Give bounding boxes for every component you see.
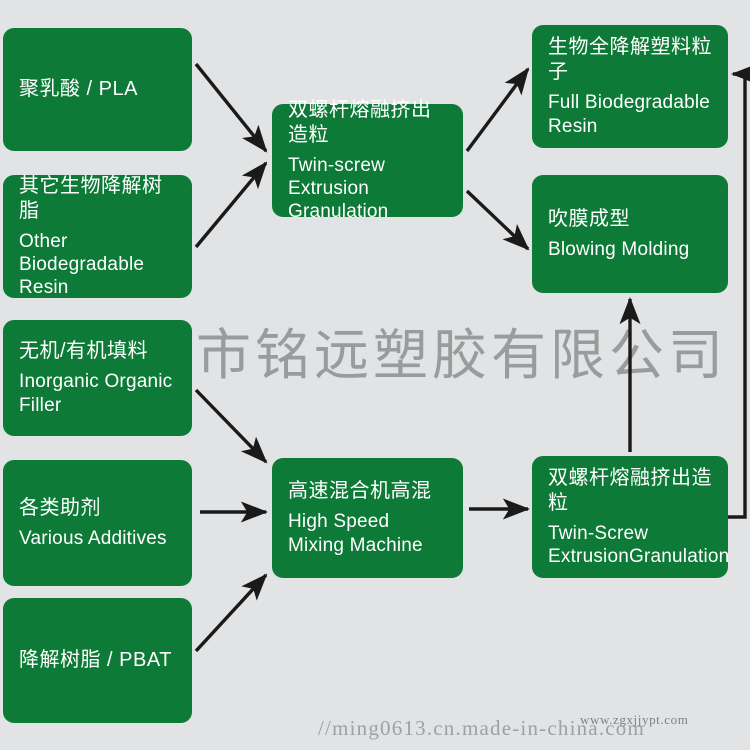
node-resin-en: Full Biodegradable Resin (548, 91, 712, 137)
node-twin1-cn: 双螺杆熔融挤出造粒 (288, 98, 447, 148)
node-filler-en: Inorganic Organic Filler (19, 370, 176, 416)
edge-pla-to-twin1 (196, 64, 266, 151)
node-twin1-en: Twin-screw Extrusion Granulation (288, 154, 447, 224)
edge-twin1-to-blow (467, 191, 528, 249)
node-blowing-molding[interactable]: 吹膜成型 Blowing Molding (532, 175, 728, 293)
edge-pbat-to-mix (196, 575, 266, 651)
node-twin2-en: Twin-Screw ExtrusionGranulation (548, 522, 712, 568)
node-additives-cn: 各类助剂 (19, 496, 176, 521)
node-twin2-cn: 双螺杆熔融挤出造粒 (548, 466, 712, 516)
node-blow-en: Blowing Molding (548, 238, 712, 261)
node-filler-cn: 无机/有机填料 (19, 339, 176, 364)
edge-twin1-to-resin (467, 69, 528, 151)
edge-twin2-to-resin (728, 74, 745, 517)
node-inorganic-organic-filler[interactable]: 无机/有机填料 Inorganic Organic Filler (3, 320, 192, 436)
node-high-speed-mixing-machine[interactable]: 高速混合机高混 High Speed Mixing Machine (272, 458, 463, 578)
edge-other-to-twin1 (196, 163, 266, 247)
node-pbat[interactable]: 降解树脂 / PBAT (3, 598, 192, 723)
watermark-secondary-url: www.zgxjjypt.com (580, 712, 688, 728)
node-pla-cn: 聚乳酸 / PLA (19, 77, 176, 102)
node-mix-cn: 高速混合机高混 (288, 479, 447, 504)
node-resin-cn: 生物全降解塑料粒子 (548, 35, 712, 85)
node-pbat-cn: 降解树脂 / PBAT (19, 648, 176, 673)
flowchart-canvas: 东莞市铭远塑胶有限公司 聚乳酸 / PLA 其它生物降解树脂 Other Bio… (0, 0, 750, 750)
node-pla[interactable]: 聚乳酸 / PLA (3, 28, 192, 151)
node-full-biodegradable-resin[interactable]: 生物全降解塑料粒子 Full Biodegradable Resin (532, 25, 728, 148)
node-twin-screw-extrusion-granulation-2[interactable]: 双螺杆熔融挤出造粒 Twin-Screw ExtrusionGranulatio… (532, 456, 728, 578)
node-blow-cn: 吹膜成型 (548, 207, 712, 232)
edge-filler-to-mix (196, 390, 266, 462)
node-additives-en: Various Additives (19, 527, 176, 550)
node-various-additives[interactable]: 各类助剂 Various Additives (3, 460, 192, 586)
node-twin-screw-extrusion-granulation-1[interactable]: 双螺杆熔融挤出造粒 Twin-screw Extrusion Granulati… (272, 104, 463, 217)
node-mix-en: High Speed Mixing Machine (288, 510, 447, 556)
node-other-cn: 其它生物降解树脂 (19, 174, 176, 224)
node-other-biodegradable-resin[interactable]: 其它生物降解树脂 Other Biodegradable Resin (3, 175, 192, 298)
node-other-en: Other Biodegradable Resin (19, 230, 176, 300)
